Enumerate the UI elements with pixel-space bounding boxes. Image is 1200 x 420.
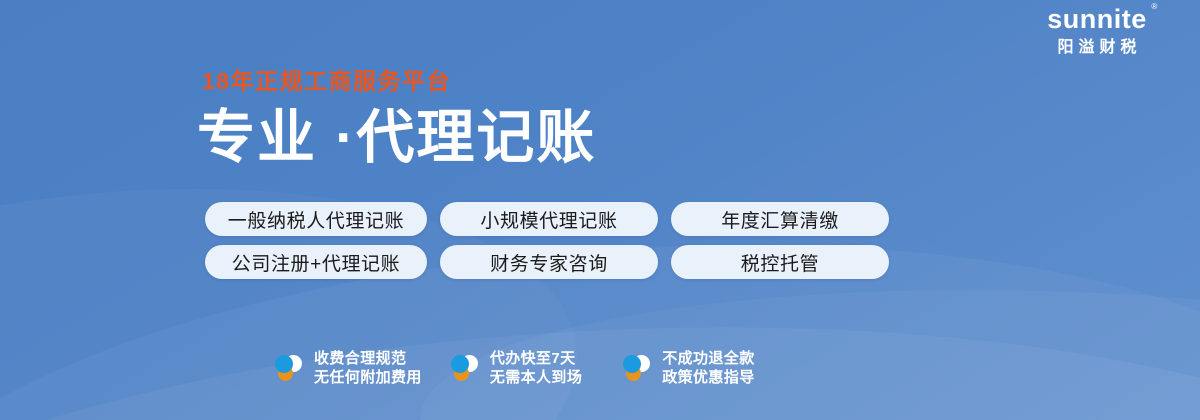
headline-block: 18年正规工商服务平台 专业 ·代理记账 [202, 70, 596, 167]
hero-eyebrow: 18年正规工商服务平台 [202, 70, 596, 93]
brand-logo[interactable]: sunnite ® 阳溢财税 [1012, 6, 1182, 56]
service-pill-row: 一般纳税人代理记账 小规模代理记账 年度汇算清缴 [205, 202, 889, 236]
three-dot-badge-icon [622, 353, 652, 383]
service-pill-small-scale[interactable]: 小规模代理记账 [440, 202, 658, 236]
service-pill-finance-consulting[interactable]: 财务专家咨询 [440, 245, 658, 279]
feature-line-1: 收费合理规范 [314, 349, 422, 368]
three-dot-badge-icon [274, 353, 304, 383]
feature-line-1: 不成功退全款 [662, 349, 754, 368]
feature-item-guarantee: 不成功退全款 政策优惠指导 [622, 349, 754, 387]
feature-line-2: 政策优惠指导 [662, 368, 754, 387]
feature-list: 收费合理规范 无任何附加费用 代办快至7天 无需本人到场 不成功退全款 [274, 349, 755, 387]
service-pill-grid: 一般纳税人代理记账 小规模代理记账 年度汇算清缴 公司注册+代理记账 财务专家咨… [205, 202, 889, 279]
feature-text: 代办快至7天 无需本人到场 [490, 349, 582, 387]
feature-item-pricing: 收费合理规范 无任何附加费用 [274, 349, 422, 387]
registered-trademark-icon: ® [1151, 3, 1157, 11]
feature-text: 不成功退全款 政策优惠指导 [662, 349, 754, 387]
hero-title: 专业 ·代理记账 [197, 109, 596, 167]
feature-line-1: 代办快至7天 [490, 349, 582, 368]
background-wave-right [415, 267, 1200, 420]
logo-wordmark: sunnite ® [1047, 6, 1147, 33]
feature-text: 收费合理规范 无任何附加费用 [314, 349, 422, 387]
logo-wordmark-text: sunnite [1047, 4, 1147, 34]
feature-line-2: 无需本人到场 [490, 368, 582, 387]
three-dot-badge-icon [450, 353, 480, 383]
feature-line-2: 无任何附加费用 [314, 368, 422, 387]
service-pill-tax-control-hosting[interactable]: 税控托管 [671, 245, 889, 279]
logo-chinese-name: 阳溢财税 [1012, 40, 1182, 56]
service-pill-company-registration[interactable]: 公司注册+代理记账 [205, 245, 427, 279]
service-pill-general-taxpayer[interactable]: 一般纳税人代理记账 [205, 202, 427, 236]
hero-banner: sunnite ® 阳溢财税 18年正规工商服务平台 专业 ·代理记账 一般纳税… [0, 0, 1200, 420]
feature-item-speed: 代办快至7天 无需本人到场 [450, 349, 582, 387]
service-pill-annual-settlement[interactable]: 年度汇算清缴 [671, 202, 889, 236]
service-pill-row: 公司注册+代理记账 财务专家咨询 税控托管 [205, 245, 889, 279]
